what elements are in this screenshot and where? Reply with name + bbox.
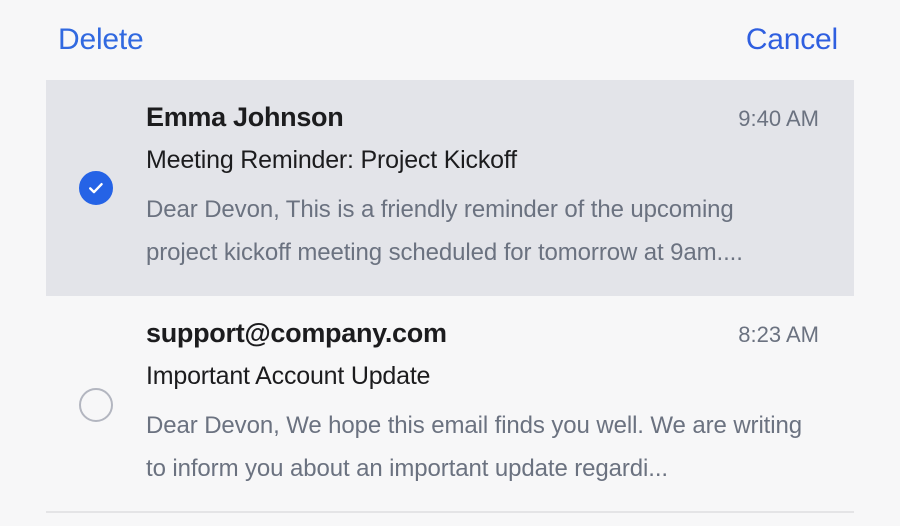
message-preview: Dear Devon, We hope this email finds you… — [146, 405, 811, 490]
delete-button[interactable]: Delete — [58, 25, 144, 55]
message-subject: Important Account Update — [146, 362, 852, 391]
message-list-item[interactable]: support@company.com 8:23 AM Important Ac… — [46, 296, 854, 512]
select-control-column — [46, 171, 146, 205]
circle-outline-icon[interactable] — [79, 388, 113, 422]
check-circle-filled-icon[interactable] — [79, 171, 113, 205]
message-timestamp: 9:40 AM — [738, 106, 852, 132]
edit-mode-action-bar: Delete Cancel — [0, 0, 900, 80]
message-sender: Emma Johnson — [146, 102, 343, 133]
message-preview: Dear Devon, This is a friendly reminder … — [146, 189, 811, 274]
message-content: Emma Johnson 9:40 AM Meeting Reminder: P… — [146, 102, 854, 274]
message-header-line: Emma Johnson 9:40 AM — [146, 102, 852, 133]
message-subject: Meeting Reminder: Project Kickoff — [146, 146, 852, 175]
message-content: support@company.com 8:23 AM Important Ac… — [146, 318, 854, 490]
message-timestamp: 8:23 AM — [738, 322, 852, 348]
message-list: Emma Johnson 9:40 AM Meeting Reminder: P… — [0, 80, 900, 513]
message-header-line: support@company.com 8:23 AM — [146, 318, 852, 349]
select-control-column — [46, 388, 146, 422]
message-list-item[interactable]: Emma Johnson 9:40 AM Meeting Reminder: P… — [46, 80, 854, 296]
message-sender: support@company.com — [146, 318, 447, 349]
cancel-button[interactable]: Cancel — [746, 25, 838, 55]
